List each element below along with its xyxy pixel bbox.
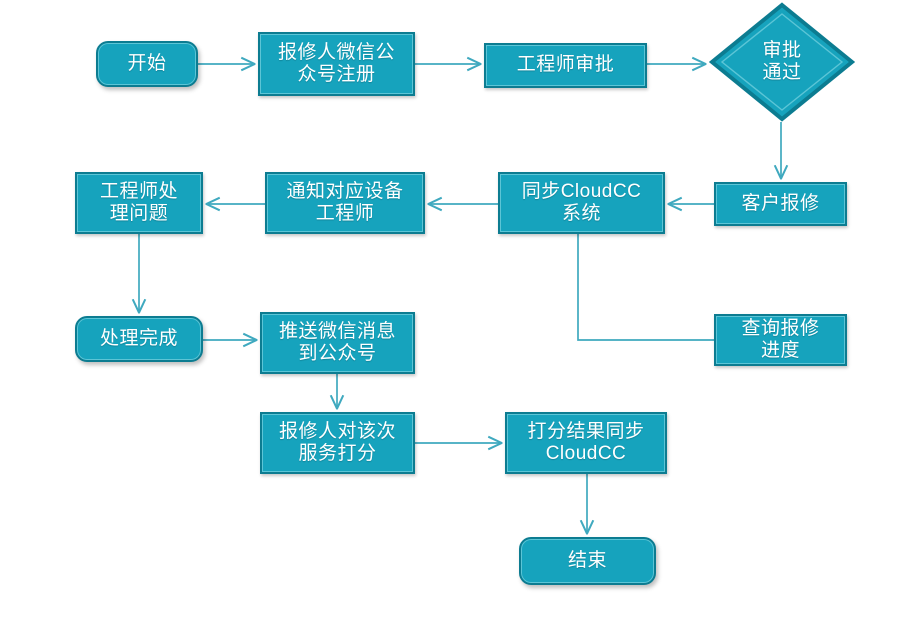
node-notify-engineer[interactable]: 通知对应设备 工程师 (265, 172, 425, 234)
node-start[interactable]: 开始 (96, 41, 198, 87)
node-start-label: 开始 (123, 53, 170, 75)
node-query-repair-progress[interactable]: 查询报修 进度 (714, 314, 847, 366)
node-engineer-approval-label: 工程师审批 (513, 54, 619, 76)
node-end[interactable]: 结束 (519, 537, 656, 585)
node-sync-rating-cloudcc[interactable]: 打分结果同步 CloudCC (505, 412, 667, 474)
node-push-wechat-message-label: 推送微信消息 到公众号 (275, 321, 400, 366)
node-engineer-approval[interactable]: 工程师审批 (484, 43, 647, 88)
node-wechat-registration[interactable]: 报修人微信公 众号注册 (258, 32, 415, 96)
node-wechat-registration-label: 报修人微信公 众号注册 (274, 42, 399, 87)
node-handling-complete[interactable]: 处理完成 (75, 316, 203, 362)
node-query-repair-progress-label: 查询报修 进度 (737, 318, 823, 363)
node-sync-cloudcc-system-label: 同步CloudCC 系统 (518, 181, 646, 226)
node-approval-passed[interactable]: 审批 通过 (709, 2, 855, 122)
node-engineer-handles-issue[interactable]: 工程师处 理问题 (75, 172, 203, 234)
node-notify-engineer-label: 通知对应设备 工程师 (282, 181, 407, 226)
node-approval-passed-label: 审批 通过 (709, 2, 855, 122)
node-handling-complete-label: 处理完成 (96, 328, 182, 350)
node-push-wechat-message[interactable]: 推送微信消息 到公众号 (260, 312, 415, 374)
node-rate-service[interactable]: 报修人对该次 服务打分 (260, 412, 415, 474)
node-customer-repair-request-label: 客户报修 (737, 193, 823, 215)
node-end-label: 结束 (564, 550, 611, 572)
edge-sync-cloudcc-to-query-prog (578, 234, 714, 340)
node-engineer-handles-issue-label: 工程师处 理问题 (96, 181, 182, 226)
node-sync-rating-cloudcc-label: 打分结果同步 CloudCC (523, 421, 648, 466)
node-rate-service-label: 报修人对该次 服务打分 (275, 421, 400, 466)
node-customer-repair-request[interactable]: 客户报修 (714, 182, 847, 226)
node-sync-cloudcc-system[interactable]: 同步CloudCC 系统 (498, 172, 665, 234)
flowchart-canvas: 开始 报修人微信公 众号注册 工程师审批 审批 通过 客户报修 同步CloudC… (0, 0, 901, 625)
